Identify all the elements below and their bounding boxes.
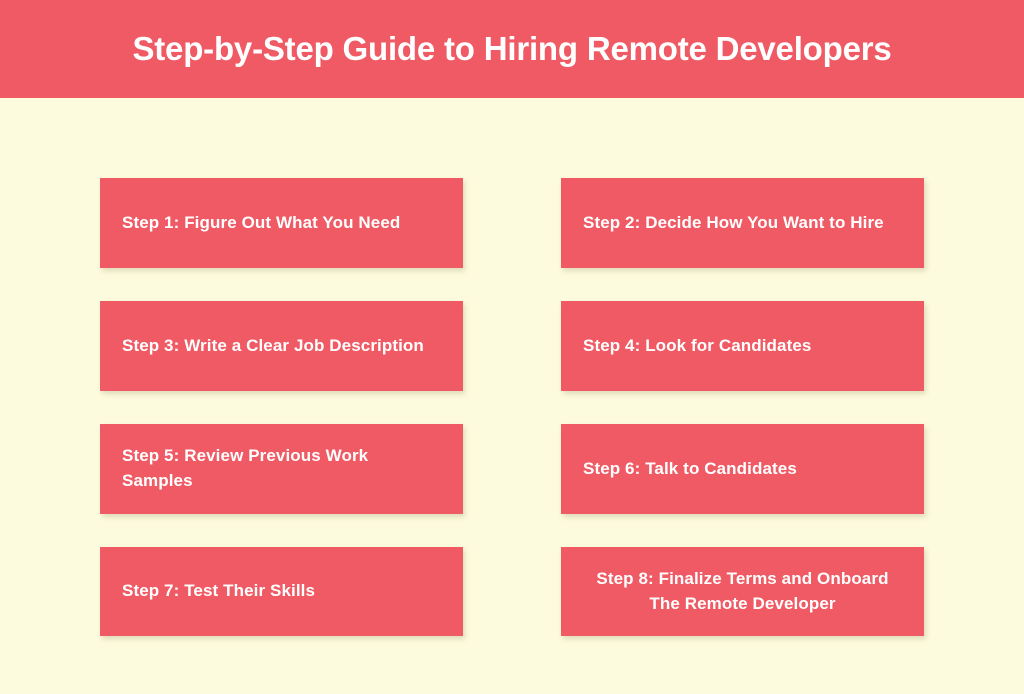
step-label-7: Step 7: Test Their Skills (122, 579, 441, 604)
step-box-8: Step 8: Finalize Terms and Onboard The R… (561, 547, 924, 636)
step-box-4: Step 4: Look for Candidates (561, 301, 924, 391)
header-banner: Step-by-Step Guide to Hiring Remote Deve… (0, 0, 1024, 98)
step-label-5: Step 5: Review Previous Work Samples (122, 444, 441, 493)
step-box-3: Step 3: Write a Clear Job Description (100, 301, 463, 391)
infographic-canvas: Step-by-Step Guide to Hiring Remote Deve… (0, 0, 1024, 694)
step-box-1: Step 1: Figure Out What You Need (100, 178, 463, 268)
step-label-1: Step 1: Figure Out What You Need (122, 211, 441, 236)
step-box-7: Step 7: Test Their Skills (100, 547, 463, 636)
step-box-5: Step 5: Review Previous Work Samples (100, 424, 463, 514)
step-label-8: Step 8: Finalize Terms and Onboard The R… (583, 567, 902, 616)
step-label-3: Step 3: Write a Clear Job Description (122, 334, 441, 359)
step-label-4: Step 4: Look for Candidates (583, 334, 902, 359)
step-label-2: Step 2: Decide How You Want to Hire (583, 211, 902, 236)
step-box-2: Step 2: Decide How You Want to Hire (561, 178, 924, 268)
page-title: Step-by-Step Guide to Hiring Remote Deve… (92, 31, 931, 67)
step-label-6: Step 6: Talk to Candidates (583, 457, 902, 482)
step-box-6: Step 6: Talk to Candidates (561, 424, 924, 514)
steps-grid: Step 1: Figure Out What You Need Step 2:… (100, 178, 924, 637)
